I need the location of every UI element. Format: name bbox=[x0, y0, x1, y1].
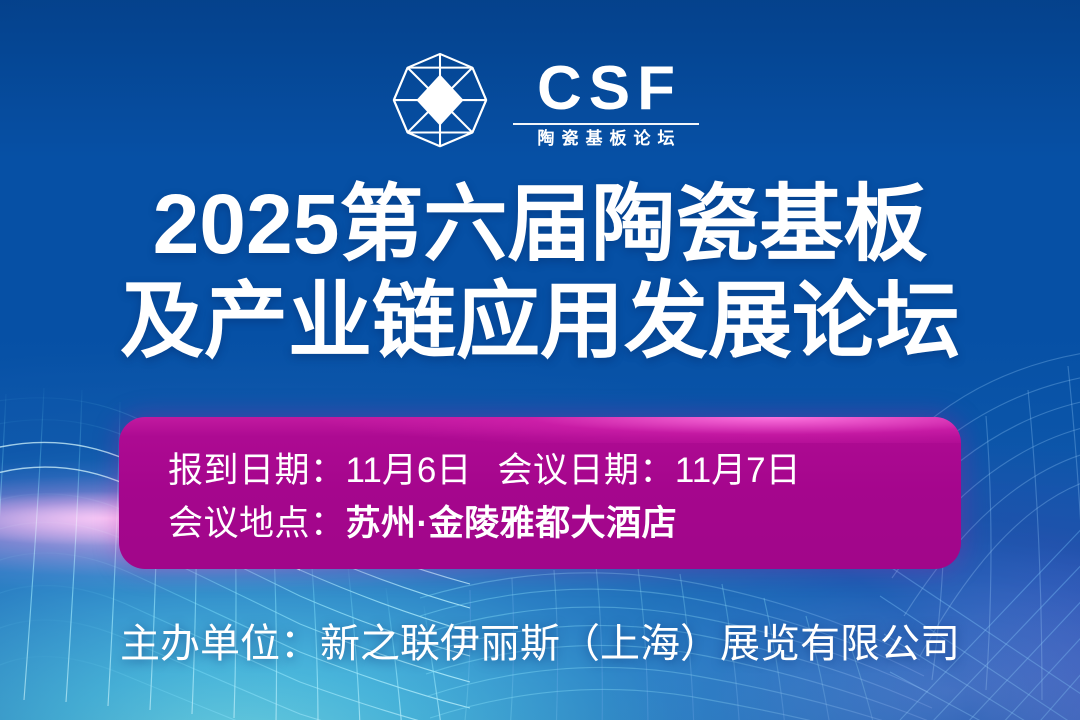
checkin-date-label: 报到日期： bbox=[168, 451, 346, 490]
csf-wordmark-text: CSF bbox=[530, 59, 682, 119]
meeting-date-label: 会议日期： bbox=[497, 451, 675, 490]
organizer-line: 主办单位：新之联伊丽斯（上海）展览有限公司 bbox=[0, 620, 1080, 668]
venue-row: 会议地点：苏州·金陵雅都大酒店 bbox=[168, 497, 961, 550]
logo-divider bbox=[513, 123, 699, 125]
title-line-1: 2025第六届陶瓷基板 bbox=[0, 176, 1080, 273]
event-info-banner: 报到日期：11月6日会议日期：11月7日 会议地点：苏州·金陵雅都大酒店 bbox=[119, 417, 961, 569]
conference-poster: CSF 陶瓷基板论坛 2025第六届陶瓷基板 及产业链应用发展论坛 报到日期：1… bbox=[0, 0, 1080, 720]
date-row: 报到日期：11月6日会议日期：11月7日 bbox=[168, 444, 961, 497]
csf-octagon-diamond-logo-icon bbox=[381, 48, 499, 160]
title-line-2: 及产业链应用发展论坛 bbox=[0, 273, 1080, 370]
venue-label: 会议地点： bbox=[168, 504, 346, 543]
logo-subtitle: 陶瓷基板论坛 bbox=[531, 129, 682, 149]
checkin-date-value: 11月6日 bbox=[346, 451, 472, 490]
csf-logo: CSF 陶瓷基板论坛 bbox=[0, 48, 1080, 160]
csf-wordmark: CSF 陶瓷基板论坛 bbox=[513, 59, 699, 148]
meeting-date-value: 11月7日 bbox=[675, 451, 801, 490]
page-title: 2025第六届陶瓷基板 及产业链应用发展论坛 bbox=[0, 176, 1080, 371]
venue-value: 苏州·金陵雅都大酒店 bbox=[346, 504, 678, 543]
